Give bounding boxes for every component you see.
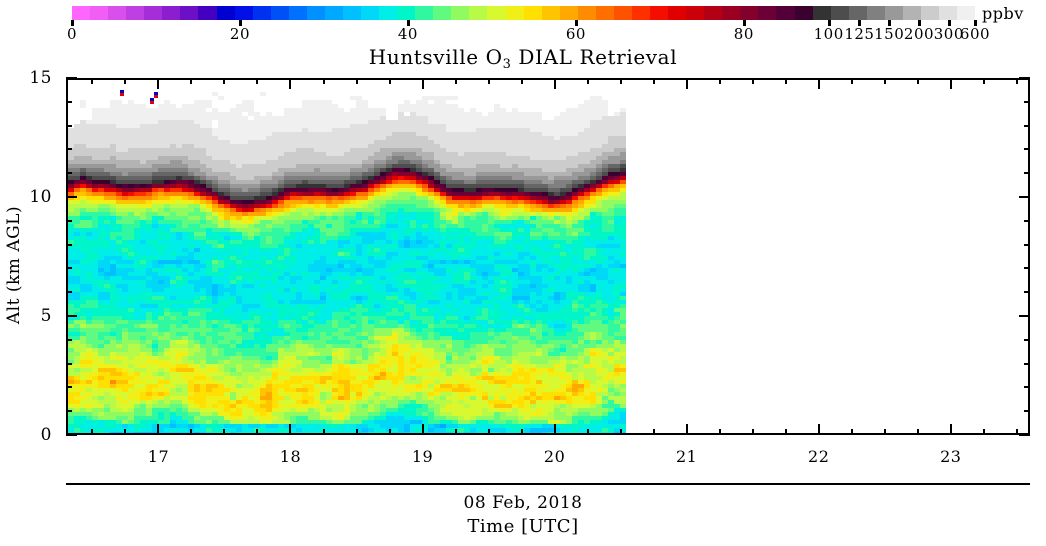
colorbar-band-30 — [614, 6, 632, 20]
x-tick-top — [389, 78, 391, 84]
x-tick-top — [356, 78, 358, 84]
x-tick-top — [851, 78, 853, 84]
colorbar-band-39 — [776, 6, 794, 20]
y-tick-left — [66, 125, 72, 127]
y-tick-right — [1024, 244, 1030, 246]
y-tick-left — [66, 363, 72, 365]
colorbar-tick-label-125: 125 — [844, 26, 874, 42]
colorbar-band-23 — [487, 6, 505, 20]
x-tick-label-17: 17 — [148, 448, 169, 466]
y-tick-left — [66, 196, 77, 198]
title-suffix: DIAL Retrieval — [511, 45, 677, 69]
colorbar-band-11 — [271, 6, 289, 20]
x-tick-bottom — [719, 429, 721, 435]
colorbar-band-36 — [722, 6, 740, 20]
y-tick-left — [66, 172, 72, 174]
y-tick-label-0: 0 — [41, 426, 52, 444]
colorbar-unit-label: ppbv — [982, 6, 1024, 22]
colorbar-band-20 — [433, 6, 451, 20]
colorbar-band-15 — [343, 6, 361, 20]
x-tick-top — [256, 78, 258, 84]
colorbar-band-6 — [180, 6, 198, 20]
x-tick-top — [818, 78, 820, 89]
colorbar-tick-label-0: 0 — [67, 26, 77, 42]
x-tick-top — [653, 78, 655, 84]
heatmap-container — [68, 80, 1028, 433]
y-tick-right — [1024, 386, 1030, 388]
colorbar-band-29 — [596, 6, 614, 20]
x-tick-bottom — [488, 429, 490, 435]
x-tick-bottom — [818, 424, 820, 435]
y-tick-left — [66, 315, 77, 317]
observation-date: 08 Feb, 2018 — [0, 493, 1046, 513]
colorbar-band-14 — [325, 6, 343, 20]
y-tick-left — [66, 101, 72, 103]
colorbar-tick-label-150: 150 — [874, 26, 904, 42]
x-tick-top — [223, 78, 225, 84]
colorbar-band-17 — [379, 6, 397, 20]
colorbar-band-3 — [126, 6, 144, 20]
colorbar-band-9 — [235, 6, 253, 20]
colorbar-band-18 — [397, 6, 415, 20]
x-tick-bottom — [752, 429, 754, 435]
title-prefix: Huntsville — [369, 45, 486, 69]
x-tick-bottom — [422, 424, 424, 435]
x-tick-label-19: 19 — [412, 448, 433, 466]
y-tick-right — [1024, 172, 1030, 174]
colorbar-band-49 — [957, 6, 975, 20]
colorbar-band-31 — [632, 6, 650, 20]
title-subscript: 3 — [503, 57, 512, 72]
x-tick-bottom — [851, 429, 853, 435]
y-tick-right — [1024, 410, 1030, 412]
ozone-heatmap — [68, 80, 1028, 433]
colorbar-band-7 — [198, 6, 216, 20]
x-tick-top — [884, 78, 886, 84]
colorbar-gradient — [72, 6, 975, 20]
x-tick-bottom — [356, 429, 358, 435]
x-tick-top — [554, 78, 556, 89]
colorbar-band-21 — [451, 6, 469, 20]
x-tick-bottom — [785, 429, 787, 435]
y-tick-right — [1024, 148, 1030, 150]
colorbar-band-48 — [939, 6, 957, 20]
y-tick-left — [66, 339, 72, 341]
colorbar-band-41 — [813, 6, 831, 20]
y-tick-left — [66, 244, 72, 246]
x-tick-top — [190, 78, 192, 84]
x-tick-label-18: 18 — [280, 448, 301, 466]
x-tick-bottom — [884, 429, 886, 435]
x-tick-top — [917, 78, 919, 84]
y-tick-right — [1019, 77, 1030, 79]
x-tick-bottom — [620, 429, 622, 435]
colorbar-band-33 — [668, 6, 686, 20]
y-tick-right — [1024, 220, 1030, 222]
x-tick-bottom — [653, 429, 655, 435]
colorbar-band-19 — [415, 6, 433, 20]
colorbar-tick-label-600: 600 — [960, 26, 990, 42]
x-tick-top — [752, 78, 754, 84]
colorbar-band-38 — [758, 6, 776, 20]
y-tick-right — [1024, 101, 1030, 103]
x-tick-bottom — [91, 429, 93, 435]
x-tick-bottom — [190, 429, 192, 435]
y-tick-left — [66, 267, 72, 269]
x-tick-bottom — [983, 429, 985, 435]
y-tick-left — [66, 220, 72, 222]
colorbar-band-5 — [162, 6, 180, 20]
colorbar-band-12 — [289, 6, 307, 20]
colorbar-band-25 — [524, 6, 542, 20]
title-species: O — [486, 45, 503, 69]
x-tick-top — [455, 78, 457, 84]
x-tick-top — [686, 78, 688, 89]
plot-area — [66, 78, 1030, 435]
colorbar-band-0 — [72, 6, 90, 20]
x-tick-top — [785, 78, 787, 84]
y-tick-right — [1024, 339, 1030, 341]
y-tick-left — [66, 291, 72, 293]
x-axis-title: Time [UTC] — [0, 517, 1046, 537]
colorbar-band-16 — [361, 6, 379, 20]
colorbar-band-43 — [849, 6, 867, 20]
colorbar-band-34 — [686, 6, 704, 20]
x-tick-top — [521, 78, 523, 84]
colorbar-tick-label-200: 200 — [904, 26, 934, 42]
y-tick-right — [1024, 267, 1030, 269]
x-tick-bottom — [389, 429, 391, 435]
y-tick-right — [1024, 291, 1030, 293]
y-tick-left — [66, 148, 72, 150]
colorbar-band-4 — [144, 6, 162, 20]
colorbar-band-40 — [795, 6, 813, 20]
x-tick-top — [983, 78, 985, 84]
colorbar-band-26 — [542, 6, 560, 20]
colorbar-band-45 — [885, 6, 903, 20]
x-tick-top — [323, 78, 325, 84]
colorbar-band-44 — [867, 6, 885, 20]
x-tick-label-21: 21 — [676, 448, 697, 466]
colorbar-tick-labels: 020406080100125150200300600 — [0, 26, 1046, 44]
colorbar-tick-label-80: 80 — [734, 26, 754, 42]
x-tick-label-23: 23 — [940, 448, 961, 466]
page-title: Huntsville O3 DIAL Retrieval — [0, 46, 1046, 72]
x-tick-bottom — [587, 429, 589, 435]
x-tick-bottom — [554, 424, 556, 435]
x-tick-bottom — [323, 429, 325, 435]
colorbar-band-35 — [704, 6, 722, 20]
x-tick-bottom — [1016, 429, 1018, 435]
x-tick-top — [422, 78, 424, 89]
colorbar-band-37 — [740, 6, 758, 20]
x-tick-label-20: 20 — [544, 448, 565, 466]
y-tick-left — [66, 410, 72, 412]
x-tick-top — [124, 78, 126, 84]
x-tick-top — [719, 78, 721, 84]
colorbar-band-8 — [217, 6, 235, 20]
x-tick-bottom — [256, 429, 258, 435]
x-axis-tick-labels: 17181920212223 — [66, 448, 1030, 468]
y-tick-left — [66, 434, 77, 436]
x-tick-top — [157, 78, 159, 89]
x-tick-bottom — [124, 429, 126, 435]
y-tick-left — [66, 386, 72, 388]
y-tick-right — [1019, 315, 1030, 317]
colorbar-tick-label-60: 60 — [566, 26, 586, 42]
colorbar-tick-label-20: 20 — [230, 26, 250, 42]
y-tick-left — [66, 77, 77, 79]
colorbar-band-1 — [90, 6, 108, 20]
y-axis-title: Alt (km AGL) — [5, 165, 23, 365]
y-tick-label-15: 15 — [29, 69, 52, 87]
colorbar-band-28 — [578, 6, 596, 20]
x-tick-top — [488, 78, 490, 84]
y-tick-right — [1024, 363, 1030, 365]
y-tick-right — [1019, 434, 1030, 436]
x-tick-bottom — [157, 424, 159, 435]
x-tick-bottom — [917, 429, 919, 435]
x-tick-bottom — [455, 429, 457, 435]
x-tick-top — [1016, 78, 1018, 84]
x-tick-bottom — [686, 424, 688, 435]
x-tick-bottom — [950, 424, 952, 435]
colorbar-band-10 — [253, 6, 271, 20]
y-tick-right — [1024, 125, 1030, 127]
colorbar-band-47 — [921, 6, 939, 20]
x-tick-top — [950, 78, 952, 89]
colorbar-band-32 — [650, 6, 668, 20]
colorbar-band-27 — [560, 6, 578, 20]
y-tick-right — [1019, 196, 1030, 198]
colorbar-band-22 — [469, 6, 487, 20]
x-tick-bottom — [289, 424, 291, 435]
colorbar-tick-label-40: 40 — [398, 26, 418, 42]
x-tick-top — [91, 78, 93, 84]
x-tick-label-22: 22 — [808, 448, 829, 466]
colorbar-band-42 — [831, 6, 849, 20]
footer-divider — [66, 483, 1030, 485]
figure: 020406080100125150200300600 ppbv Huntsvi… — [0, 0, 1046, 546]
x-tick-top — [289, 78, 291, 89]
x-tick-bottom — [223, 429, 225, 435]
colorbar-band-46 — [903, 6, 921, 20]
colorbar-band-13 — [307, 6, 325, 20]
colorbar-band-2 — [108, 6, 126, 20]
colorbar-tick-label-100: 100 — [814, 26, 844, 42]
x-tick-bottom — [521, 429, 523, 435]
y-tick-label-10: 10 — [29, 188, 52, 206]
y-tick-label-5: 5 — [41, 307, 52, 325]
colorbar-band-24 — [506, 6, 524, 20]
x-tick-top — [620, 78, 622, 84]
colorbar — [72, 6, 975, 20]
x-tick-top — [587, 78, 589, 84]
